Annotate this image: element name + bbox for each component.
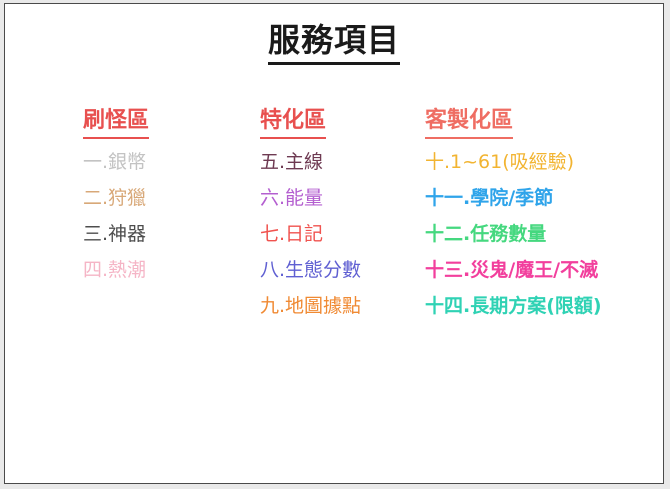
item-list-1: 五.主線 六.能量 七.日記 八.生態分數 九.地圖據點 bbox=[256, 144, 426, 324]
column-header-1: 特化區 bbox=[260, 107, 426, 139]
list-item[interactable]: 十三.災鬼/魔王/不滅 bbox=[421, 252, 636, 288]
list-item[interactable]: 十四.長期方案(限額) bbox=[421, 288, 636, 324]
list-item[interactable]: 十.1~61(吸經驗) bbox=[421, 144, 636, 180]
page-title-text: 服務項目 bbox=[268, 20, 400, 65]
list-item[interactable]: 一.銀幣 bbox=[79, 144, 249, 180]
column-header-2-text: 客製化區 bbox=[425, 107, 513, 139]
item-list-2: 十.1~61(吸經驗) 十一.學院/季節 十二.任務數量 十三.災鬼/魔王/不滅… bbox=[421, 144, 636, 324]
slide-canvas: 服務項目 刷怪區 一.銀幣 二.狩獵 三.神器 四.熱潮 特化區 五.主線 六.… bbox=[4, 3, 664, 484]
item-list-0: 一.銀幣 二.狩獵 三.神器 四.熱潮 bbox=[79, 144, 249, 288]
list-item[interactable]: 六.能量 bbox=[256, 180, 426, 216]
column-header-2: 客製化區 bbox=[425, 107, 636, 139]
list-item[interactable]: 三.神器 bbox=[79, 216, 249, 252]
list-item[interactable]: 五.主線 bbox=[256, 144, 426, 180]
page-title: 服務項目 bbox=[5, 20, 663, 65]
column-spawn-area: 刷怪區 一.銀幣 二.狩獵 三.神器 四.熱潮 bbox=[79, 107, 249, 288]
list-item[interactable]: 十一.學院/季節 bbox=[421, 180, 636, 216]
list-item[interactable]: 十二.任務數量 bbox=[421, 216, 636, 252]
list-item[interactable]: 七.日記 bbox=[256, 216, 426, 252]
list-item[interactable]: 九.地圖據點 bbox=[256, 288, 426, 324]
column-specialization-area: 特化區 五.主線 六.能量 七.日記 八.生態分數 九.地圖據點 bbox=[256, 107, 426, 324]
column-header-0: 刷怪區 bbox=[83, 107, 249, 139]
list-item[interactable]: 四.熱潮 bbox=[79, 252, 249, 288]
column-header-0-text: 刷怪區 bbox=[83, 107, 149, 139]
column-custom-area: 客製化區 十.1~61(吸經驗) 十一.學院/季節 十二.任務數量 十三.災鬼/… bbox=[421, 107, 636, 324]
column-header-1-text: 特化區 bbox=[260, 107, 326, 139]
list-item[interactable]: 八.生態分數 bbox=[256, 252, 426, 288]
list-item[interactable]: 二.狩獵 bbox=[79, 180, 249, 216]
